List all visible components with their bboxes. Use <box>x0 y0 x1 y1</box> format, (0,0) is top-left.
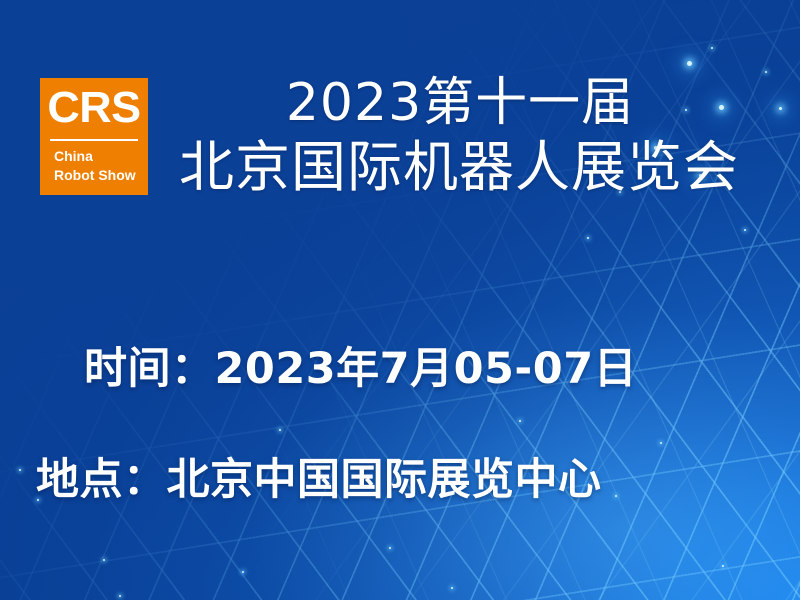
glow-particle <box>765 71 767 73</box>
event-title-line-2: 北京国际机器人展览会 <box>153 134 765 200</box>
glow-particle <box>722 565 724 567</box>
logo-divider-line <box>50 139 138 141</box>
glow-particle <box>242 571 244 573</box>
logo-subtitle-line-1: China <box>40 147 148 166</box>
event-title-line-1: 2023第十一届 <box>155 72 765 134</box>
glow-particle <box>711 47 713 49</box>
glow-particle <box>279 429 281 431</box>
event-date-text: 时间：2023年7月05-07日 <box>84 344 637 394</box>
glow-particle <box>389 547 391 549</box>
glow-particle <box>451 587 453 589</box>
glow-particle <box>779 107 782 110</box>
crs-logo: CRS China Robot Show <box>40 78 148 195</box>
event-venue-text: 地点：北京中国国际展览中心 <box>36 455 602 505</box>
event-title: 2023第十一届 北京国际机器人展览会 <box>155 72 765 200</box>
glow-particle <box>587 237 589 239</box>
poster-canvas: CRS China Robot Show 2023第十一届 北京国际机器人展览会… <box>0 0 800 600</box>
glow-particle <box>744 229 746 231</box>
glow-particle <box>660 442 662 444</box>
glow-particle <box>519 420 521 422</box>
glow-particle <box>615 495 617 497</box>
logo-subtitle-line-2: Robot Show <box>40 166 148 185</box>
glow-particle <box>687 61 692 66</box>
glow-particle <box>19 469 21 471</box>
glow-particle <box>119 595 121 597</box>
glow-particle <box>103 559 105 561</box>
logo-acronym-text: CRS <box>39 83 149 133</box>
